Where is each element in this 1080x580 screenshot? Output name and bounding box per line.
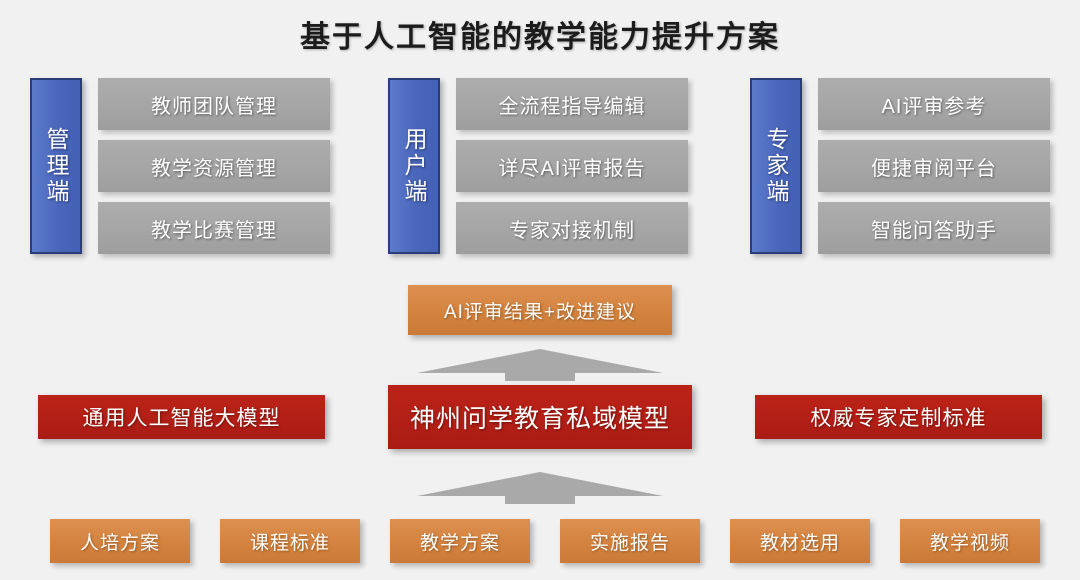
group-item[interactable]: 教学资源管理 (98, 140, 330, 192)
group-item[interactable]: 全流程指导编辑 (456, 78, 688, 130)
group-user: 用户端 全流程指导编辑 详尽AI评审报告 专家对接机制 (388, 78, 688, 254)
lower-up-arrow-icon (415, 470, 665, 506)
group-item[interactable]: 智能问答助手 (818, 202, 1050, 254)
group-tab-user[interactable]: 用户端 (388, 78, 440, 254)
group-tab-label: 用户端 (400, 127, 428, 205)
group-tab-management[interactable]: 管理端 (30, 78, 82, 254)
slide-canvas: 基于人工智能的教学能力提升方案 管理端 教师团队管理 教学资源管理 教学比赛管理… (0, 0, 1080, 580)
ai-result-box[interactable]: AI评审结果+改进建议 (408, 285, 672, 335)
document-box[interactable]: 教学视频 (900, 519, 1040, 563)
group-item[interactable]: 教师团队管理 (98, 78, 330, 130)
page-title: 基于人工智能的教学能力提升方案 (0, 12, 1080, 56)
group-item-list: AI评审参考 便捷审阅平台 智能问答助手 (818, 78, 1050, 254)
group-item[interactable]: 教学比赛管理 (98, 202, 330, 254)
group-item[interactable]: 便捷审阅平台 (818, 140, 1050, 192)
document-row: 人培方案 课程标准 教学方案 实施报告 教材选用 教学视频 (50, 519, 1040, 563)
group-item-list: 全流程指导编辑 详尽AI评审报告 专家对接机制 (456, 78, 688, 254)
model-box-standard[interactable]: 权威专家定制标准 (755, 395, 1042, 439)
group-item[interactable]: 专家对接机制 (456, 202, 688, 254)
group-item-list: 教师团队管理 教学资源管理 教学比赛管理 (98, 78, 330, 254)
document-box[interactable]: 实施报告 (560, 519, 700, 563)
group-tab-label: 专家端 (762, 127, 790, 205)
model-box-private[interactable]: 神州问学教育私域模型 (388, 385, 692, 449)
group-item[interactable]: AI评审参考 (818, 78, 1050, 130)
upper-up-arrow-icon (415, 347, 665, 383)
group-tab-label: 管理端 (42, 127, 70, 205)
group-item[interactable]: 详尽AI评审报告 (456, 140, 688, 192)
group-tab-expert[interactable]: 专家端 (750, 78, 802, 254)
group-expert: 专家端 AI评审参考 便捷审阅平台 智能问答助手 (750, 78, 1050, 254)
model-box-general[interactable]: 通用人工智能大模型 (38, 395, 325, 439)
document-box[interactable]: 人培方案 (50, 519, 190, 563)
document-box[interactable]: 课程标准 (220, 519, 360, 563)
group-management: 管理端 教师团队管理 教学资源管理 教学比赛管理 (30, 78, 330, 254)
document-box[interactable]: 教材选用 (730, 519, 870, 563)
document-box[interactable]: 教学方案 (390, 519, 530, 563)
